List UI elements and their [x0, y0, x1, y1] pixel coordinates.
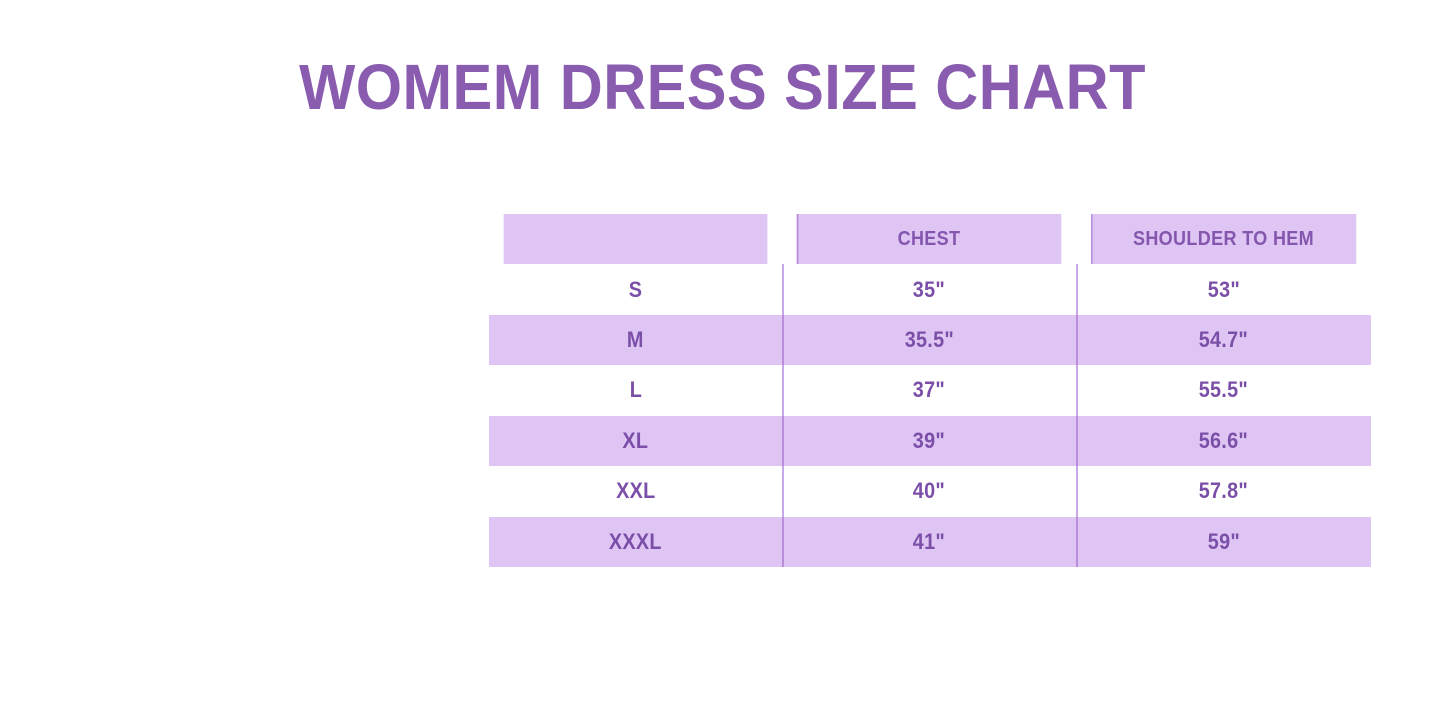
table-row: XXL 40" 57.8": [489, 466, 1371, 516]
cell-size-text: M: [627, 327, 644, 353]
cell-size-text: L: [629, 377, 641, 403]
cell-chest: 41": [782, 517, 1076, 567]
cell-chest: 39": [782, 416, 1076, 466]
cell-size: L: [489, 365, 782, 415]
table-header: CHEST SHOULDER TO HEM: [489, 214, 1371, 264]
column-header-size: [504, 214, 768, 264]
cell-size-text: S: [629, 277, 642, 303]
table-row: S 35" 53": [489, 264, 1371, 314]
cell-size: XXL: [489, 466, 782, 516]
table-header-row: CHEST SHOULDER TO HEM: [489, 214, 1371, 264]
size-chart-page: WOMEM DRESS SIZE CHART CHEST SHOULDER TO…: [0, 0, 1445, 723]
cell-size-text: XXL: [616, 478, 655, 504]
table-row: XL 39" 56.6": [489, 416, 1371, 466]
cell-shoulder-to-hem-text: 59": [1207, 529, 1239, 555]
column-header-shoulder-to-hem: SHOULDER TO HEM: [1091, 214, 1357, 264]
size-chart-table: CHEST SHOULDER TO HEM S 35" 53": [489, 214, 1371, 567]
cell-size: M: [489, 315, 782, 365]
cell-chest: 40": [782, 466, 1076, 516]
table-row: L 37" 55.5": [489, 365, 1371, 415]
cell-size: XL: [489, 416, 782, 466]
cell-size: XXXL: [489, 517, 782, 567]
cell-shoulder-to-hem: 59": [1076, 517, 1371, 567]
cell-chest: 37": [782, 365, 1076, 415]
cell-shoulder-to-hem: 56.6": [1076, 416, 1371, 466]
cell-shoulder-to-hem: 54.7": [1076, 315, 1371, 365]
size-chart-table-container: CHEST SHOULDER TO HEM S 35" 53": [489, 214, 1371, 567]
page-title: WOMEM DRESS SIZE CHART: [51, 52, 1395, 122]
cell-chest: 35.5": [782, 315, 1076, 365]
cell-chest-text: 35.5": [904, 327, 953, 353]
cell-shoulder-to-hem: 57.8": [1076, 466, 1371, 516]
cell-chest-text: 37": [913, 377, 945, 403]
cell-chest-text: 39": [913, 428, 945, 454]
cell-size-text: XL: [623, 428, 649, 454]
cell-shoulder-to-hem: 53": [1076, 264, 1371, 314]
cell-chest-text: 41": [913, 529, 945, 555]
cell-chest-text: 35": [913, 277, 945, 303]
cell-chest-text: 40": [913, 478, 945, 504]
cell-shoulder-to-hem-text: 55.5": [1199, 377, 1248, 403]
cell-shoulder-to-hem-text: 54.7": [1199, 327, 1248, 353]
cell-chest: 35": [782, 264, 1076, 314]
cell-shoulder-to-hem-text: 53": [1207, 277, 1239, 303]
cell-size: S: [489, 264, 782, 314]
cell-shoulder-to-hem-text: 57.8": [1199, 478, 1248, 504]
table-row: M 35.5" 54.7": [489, 315, 1371, 365]
column-header-chest: CHEST: [797, 214, 1062, 264]
cell-size-text: XXXL: [609, 529, 662, 555]
table-body: S 35" 53" M 35.5": [489, 264, 1371, 567]
cell-shoulder-to-hem-text: 56.6": [1199, 428, 1248, 454]
table-row: XXXL 41" 59": [489, 517, 1371, 567]
cell-shoulder-to-hem: 55.5": [1076, 365, 1371, 415]
